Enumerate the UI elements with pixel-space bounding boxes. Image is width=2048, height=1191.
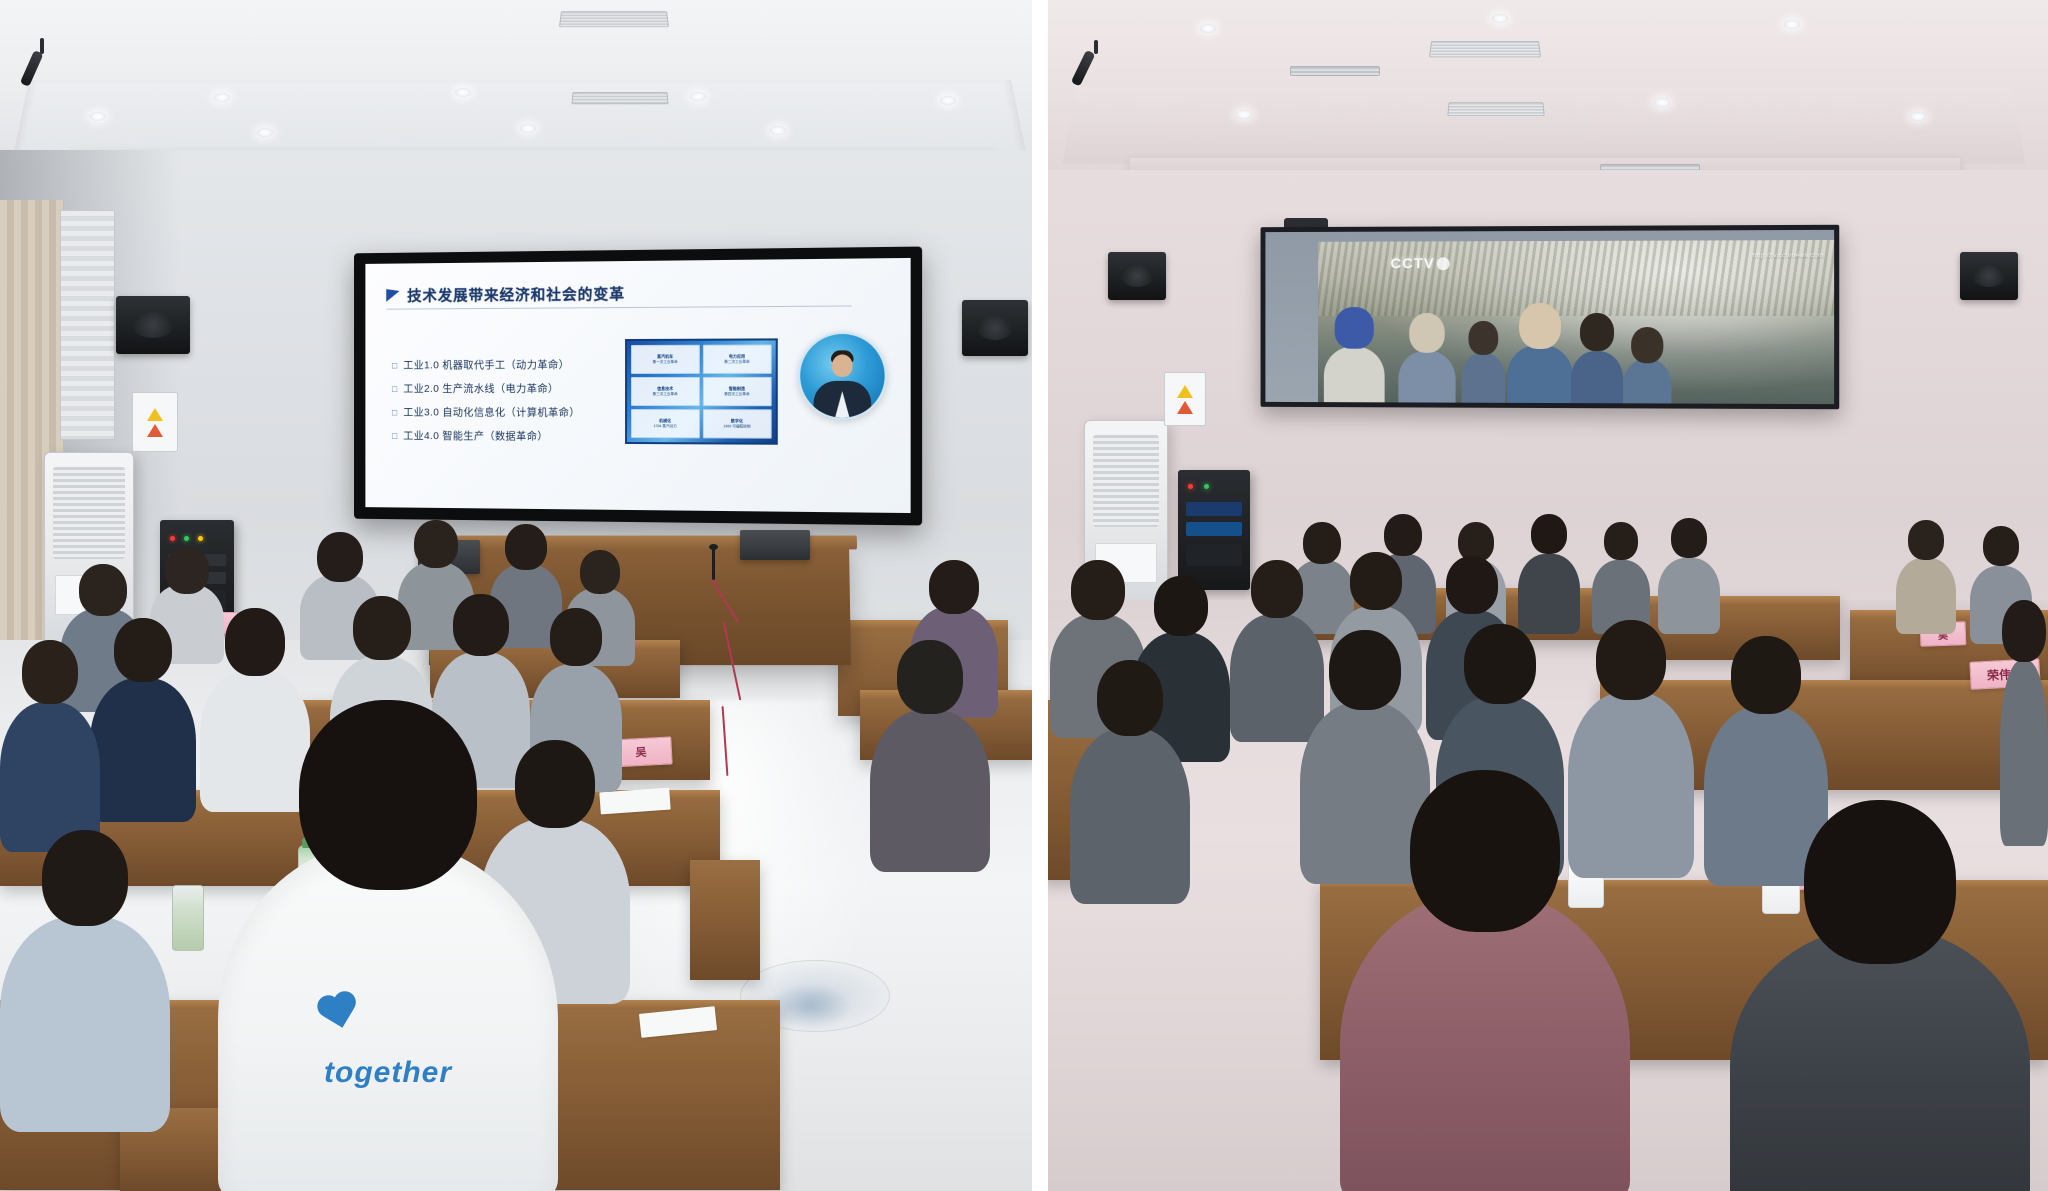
attendee-head [1329, 630, 1401, 710]
ceiling-downlight-icon [1910, 112, 1926, 121]
attendee [1340, 770, 1630, 1191]
attendee-head [1384, 514, 1422, 556]
attendee-head [505, 524, 547, 570]
grid-cell-sub: 第三次工业革命 [633, 392, 697, 397]
attendee-head [1671, 518, 1707, 558]
ceiling-vent-icon [1429, 41, 1541, 57]
slide-bullet-item: 工业4.0 智能生产（数据革命） [392, 428, 580, 444]
grid-cell-sub: 第四次工业革命 [704, 392, 769, 397]
ceiling-vent-icon [1447, 102, 1544, 116]
attendee-body [1340, 890, 1630, 1191]
wall-speaker-icon [962, 300, 1028, 356]
chair-back [690, 860, 760, 980]
ceiling-downlight-icon [1200, 24, 1216, 33]
panel-divider [1032, 0, 1048, 1191]
grid-cell: 数字化 1969 可编程控制 [702, 409, 771, 438]
heart-swoosh-icon [313, 989, 365, 1038]
projection-surface: CCTV http://tv.cctvnews.com [1265, 230, 1834, 404]
attendee-head [897, 640, 963, 714]
attendee-head [1097, 660, 1163, 736]
ceiling-downlight-icon [690, 92, 706, 101]
attendee-head [1251, 560, 1303, 618]
ceiling-vent-icon [559, 11, 669, 27]
attendee-head [414, 520, 458, 568]
attendee-head [550, 608, 602, 666]
attendee [1896, 518, 1956, 630]
video-figure [1623, 327, 1671, 404]
attendee [1518, 512, 1580, 630]
ac-grill [53, 467, 125, 559]
attendee-head [317, 532, 363, 582]
slide-title-underline [386, 305, 851, 309]
track-light-arm [40, 38, 44, 54]
photo-pair-composition: 技术发展带来经济和社会的变革 工业1.0 机器取代手工（动力革命） 工业2.0 … [0, 0, 2048, 1191]
microphone-head-icon [709, 544, 718, 550]
attendee [1658, 516, 1720, 630]
video-figure [1324, 307, 1385, 404]
attendee-head [1464, 624, 1536, 704]
safety-sign [132, 392, 178, 452]
attendee-head [114, 618, 172, 682]
cctv-logo-text: CCTV [1391, 255, 1435, 272]
attendee [0, 830, 170, 1130]
attendee [870, 640, 990, 870]
warning-triangle-red-icon [147, 424, 163, 437]
ceiling-downlight-icon [520, 124, 536, 133]
slide-bullet-item: 工业3.0 自动化信息化（计算机革命） [392, 405, 580, 420]
white-tshirt-attendee: together [218, 700, 558, 1191]
ceiling-downlight-icon [940, 96, 956, 105]
ceiling-downlight-icon [1784, 20, 1800, 29]
grid-cell-sub: 1784 蒸汽动力 [633, 424, 697, 429]
left-photo-panel: 技术发展带来经济和社会的变革 工业1.0 机器取代手工（动力革命） 工业2.0 … [0, 0, 1040, 1191]
attendee-head [165, 546, 209, 594]
wall-speaker-icon [1960, 252, 2018, 300]
attendee [0, 640, 100, 850]
ceiling-downlight-icon [90, 112, 106, 121]
video-figure [1507, 303, 1573, 404]
ceiling-downlight-icon [257, 128, 273, 137]
warning-triangle-yellow-icon [1177, 385, 1193, 398]
video-figure [1462, 321, 1506, 404]
slide-title: 技术发展带来经济和社会的变革 [407, 283, 625, 306]
ac-grill [1093, 435, 1159, 527]
video-background-foliage [1318, 240, 1834, 316]
attendee-body [90, 678, 196, 822]
attendee [2000, 600, 2048, 840]
attendee-body [1896, 558, 1956, 634]
attendee-body [1730, 926, 2030, 1191]
ceiling-downlight-icon [1492, 14, 1508, 23]
grid-cell-sub: 第二次工业革命 [704, 359, 769, 364]
nameplate-text: 吴 [635, 744, 647, 761]
grid-cell: 信息技术 第三次工业革命 [631, 377, 699, 406]
grid-cell: 电力应用 第二次工业革命 [702, 344, 771, 373]
attendee-body [870, 710, 990, 872]
attendee-head [1596, 620, 1666, 700]
video-figure-body [1571, 351, 1623, 404]
attendee-head [1604, 522, 1638, 560]
attendee-head [1908, 520, 1944, 560]
ceiling-downlight-icon [1236, 110, 1252, 119]
attendee-body [2000, 660, 2048, 846]
window-blind [60, 210, 115, 440]
slide-title-bullet-icon [386, 289, 399, 302]
attendee [1070, 660, 1190, 900]
ceiling-downlight-icon [1654, 98, 1670, 107]
attendee [1730, 800, 2030, 1191]
video-figure-head [1335, 307, 1374, 349]
slide-bullet-list: 工业1.0 机器取代手工（动力革命） 工业2.0 生产流水线（电力革命） 工业3… [392, 357, 580, 453]
grid-cell: 智能制造 第四次工业革命 [702, 377, 771, 406]
attendee-head [1446, 556, 1498, 614]
attendee-head [1983, 526, 2019, 566]
warning-triangle-yellow-icon [147, 408, 163, 421]
attendee-body [0, 916, 170, 1132]
video-figure [1398, 313, 1455, 404]
video-figure-body [1324, 347, 1385, 404]
attendee [90, 618, 196, 818]
presentation-slide: 技术发展带来经济和社会的变革 工业1.0 机器取代手工（动力革命） 工业2.0 … [365, 258, 910, 513]
warning-triangle-red-icon [1177, 401, 1193, 414]
attendee-head [42, 830, 128, 926]
video-figure-head [1580, 313, 1614, 351]
video-figure-body [1623, 359, 1671, 404]
video-figure-body [1398, 351, 1455, 404]
attendee-head [1531, 514, 1567, 554]
ceiling-vent-icon [1290, 66, 1380, 76]
laptop [740, 530, 810, 560]
attendee-head [1350, 552, 1402, 610]
right-photo-panel: CCTV http://tv.cctvnews.com [1040, 0, 2048, 1191]
video-figure-head [1409, 313, 1445, 353]
ceiling-downlight-icon [770, 126, 786, 135]
presenter-video-circle [798, 332, 887, 420]
video-figure-head [1519, 303, 1561, 349]
projection-screen: CCTV http://tv.cctvnews.com [1261, 225, 1840, 409]
water-glass [172, 885, 204, 951]
wall-display: 技术发展带来经济和社会的变革 工业1.0 机器取代手工（动力革命） 工业2.0 … [354, 247, 922, 526]
status-led-green [1204, 484, 1209, 489]
video-watermark: http://tv.cctvnews.com [1752, 252, 1823, 259]
video-figure-body [1507, 345, 1573, 404]
attendee-head [353, 596, 411, 660]
cctv-channel-logo: CCTV [1391, 255, 1450, 272]
attendee-head [1731, 636, 1801, 714]
floor-glow [770, 985, 850, 1027]
presenter-head [832, 354, 853, 376]
ceiling-downlight-icon [455, 88, 471, 97]
status-led-red [1188, 484, 1193, 489]
grid-cell-sub: 第一次工业革命 [633, 360, 697, 365]
attendee-head [79, 564, 127, 616]
video-figure-head [1631, 327, 1663, 363]
attendee-head [453, 594, 509, 656]
attendee-head [580, 550, 620, 594]
attendee-head [299, 700, 477, 890]
slide-bullet-item: 工业1.0 机器取代手工（动力革命） [392, 357, 580, 372]
attendee-head [22, 640, 78, 704]
video-figure-head [1468, 321, 1498, 355]
slide-bullet-item: 工业2.0 生产流水线（电力革命） [392, 381, 580, 396]
video-frame: CCTV http://tv.cctvnews.com [1318, 240, 1834, 404]
attendee-body [1070, 728, 1190, 904]
microphone-stand [712, 548, 715, 580]
grid-cell-sub: 1969 可编程控制 [704, 424, 769, 429]
wall-speaker-icon [116, 296, 190, 354]
video-figure [1571, 313, 1623, 404]
attendee-head [1410, 770, 1560, 932]
tshirt-logo: together [273, 1000, 503, 1110]
track-light-arm [1094, 40, 1098, 54]
video-figure-body [1462, 353, 1506, 404]
attendee-head [1154, 576, 1208, 636]
wall-speaker-icon [1108, 252, 1166, 300]
attendee-head [929, 560, 979, 614]
attendee [1592, 520, 1650, 630]
ceiling-vent-icon [571, 92, 668, 104]
industry-stage-grid: 蒸汽机车 第一次工业革命 电力应用 第二次工业革命 信息技术 第三次工业革命 智… [625, 338, 778, 444]
ceiling-downlight-icon [214, 93, 230, 102]
tshirt-logo-text: together [324, 1056, 452, 1090]
grid-cell: 蒸汽机车 第一次工业革命 [631, 345, 699, 374]
attendee-head [1804, 800, 1956, 964]
safety-sign [1164, 372, 1206, 426]
cctv-badge-icon [1437, 257, 1450, 270]
right-ceiling-recess [1062, 88, 2025, 164]
attendee-head [225, 608, 285, 676]
attendee-head [2002, 600, 2046, 662]
grid-cell: 机械化 1784 蒸汽动力 [631, 409, 699, 438]
attendee-head [1071, 560, 1125, 620]
